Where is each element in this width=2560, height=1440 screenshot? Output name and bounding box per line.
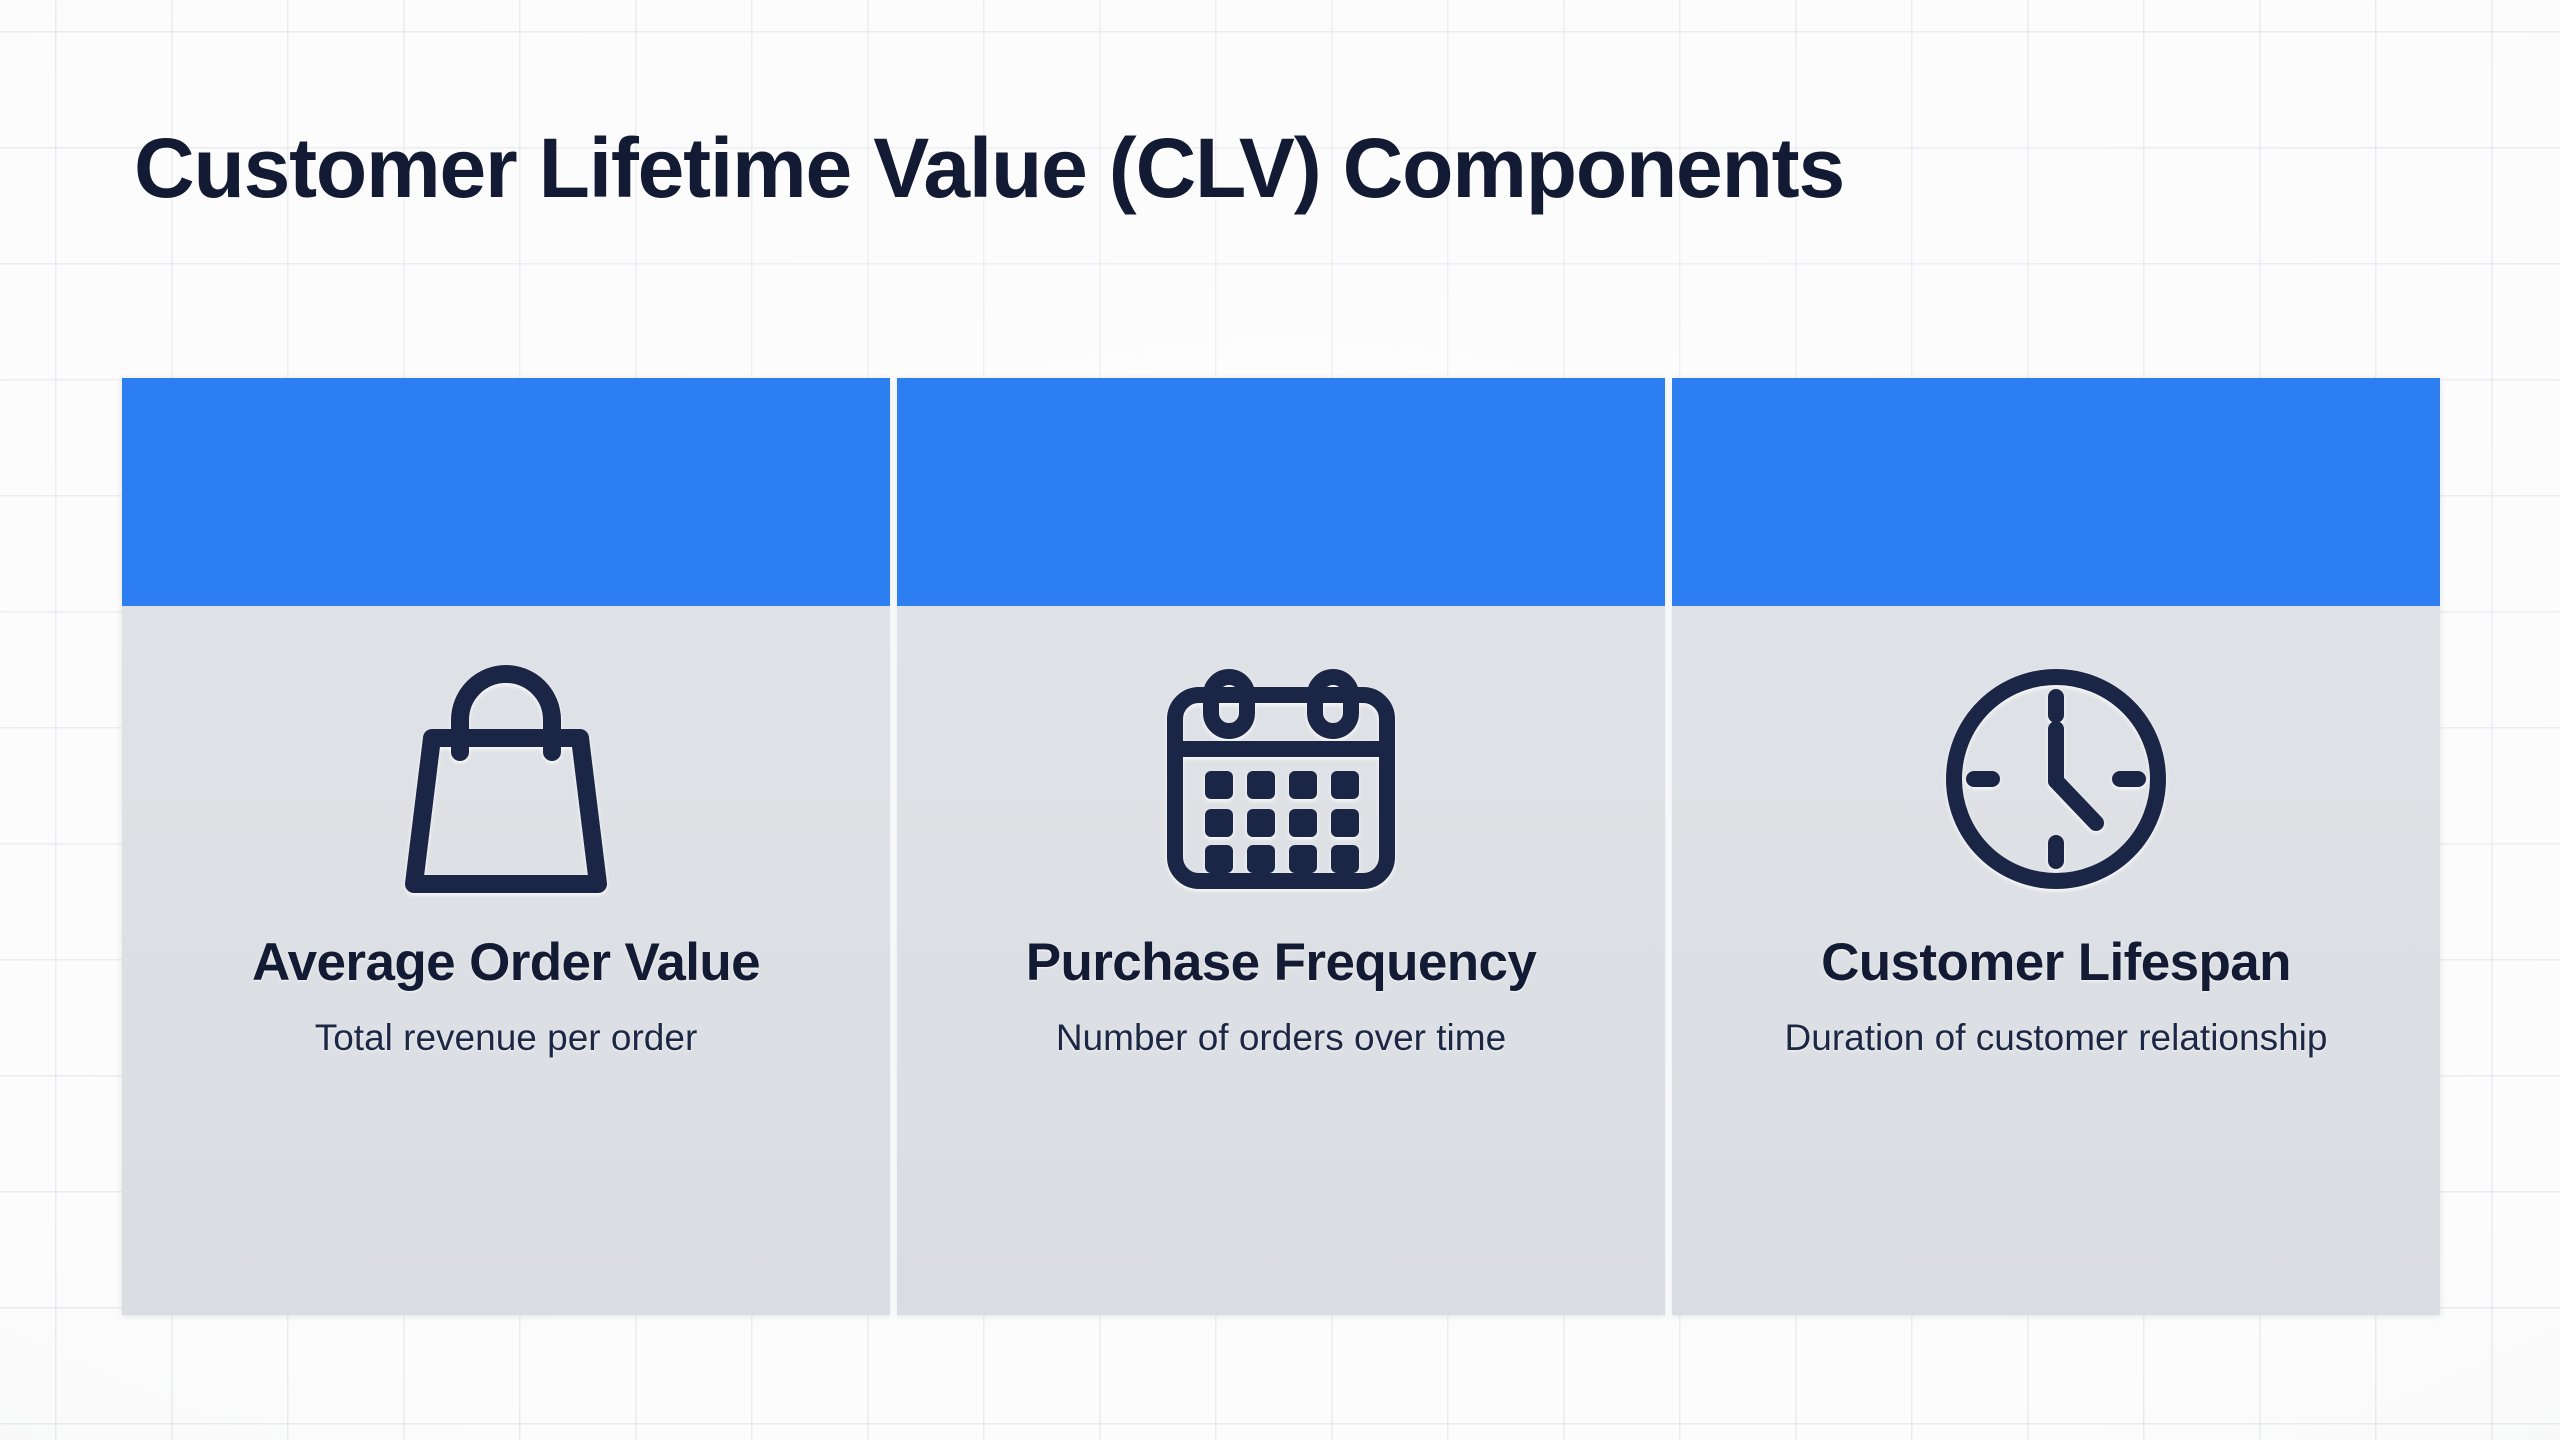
card-title: Average Order Value [252, 932, 760, 993]
card-customer-lifespan[interactable]: Customer Lifespan Duration of customer r… [1672, 378, 2440, 1315]
card-subtitle: Number of orders over time [1056, 1017, 1506, 1059]
card-title: Customer Lifespan [1821, 932, 2291, 993]
shopping-bag-icon [396, 650, 616, 908]
card-purchase-frequency[interactable]: Purchase Frequency Number of orders over… [897, 378, 1665, 1315]
card-average-order-value[interactable]: Average Order Value Total revenue per or… [122, 378, 890, 1315]
clock-icon [1942, 650, 2170, 908]
card-title: Purchase Frequency [1026, 932, 1537, 993]
clv-components-card-row: Average Order Value Total revenue per or… [122, 378, 2440, 1315]
calendar-icon [1165, 650, 1397, 908]
card-header-band [1672, 378, 2440, 606]
page-title: Customer Lifetime Value (CLV) Components [134, 126, 2434, 210]
card-header-band [897, 378, 1665, 606]
card-body: Purchase Frequency Number of orders over… [897, 606, 1665, 1315]
card-subtitle: Total revenue per order [315, 1017, 698, 1059]
card-body: Customer Lifespan Duration of customer r… [1672, 606, 2440, 1315]
card-subtitle: Duration of customer relationship [1785, 1017, 2328, 1059]
card-body: Average Order Value Total revenue per or… [122, 606, 890, 1315]
card-header-band [122, 378, 890, 606]
